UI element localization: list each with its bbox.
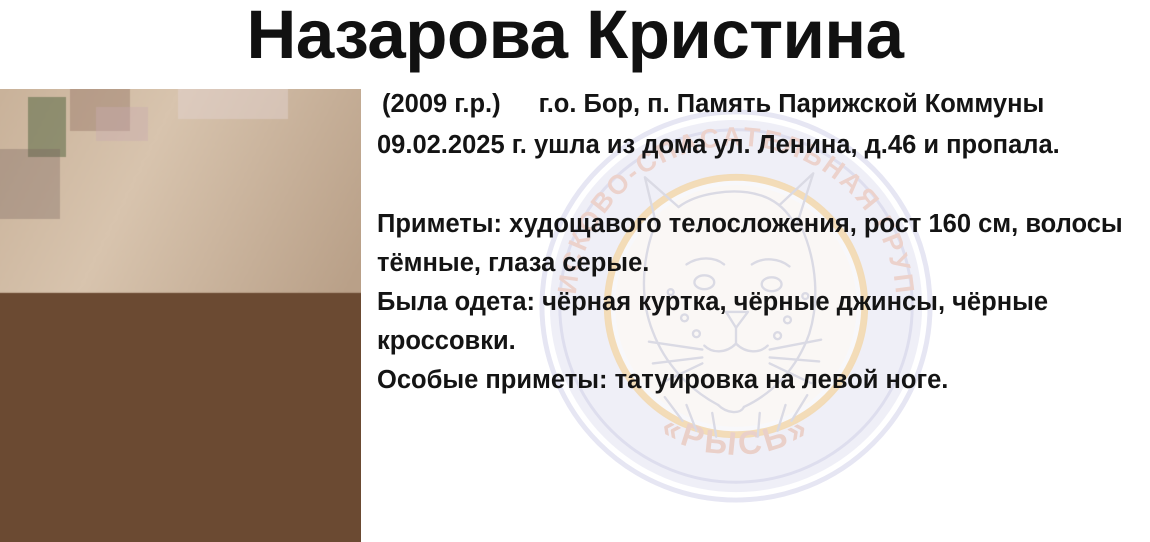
clothing-line-2: кроссовки. (377, 322, 1150, 361)
watermark-name-text: «РЫСЬ» (656, 407, 816, 463)
birth-year: (2009 г.р.) (382, 90, 501, 118)
features-line-2: тёмные, глаза серые. (377, 244, 1150, 283)
photo-canvas (0, 89, 361, 542)
missing-person-poster: ПОИСКОВО-СПАСАТЕЛЬНАЯ ГРУППА «РЫСЬ» (0, 0, 1150, 542)
features-line-1: Приметы: худощавого телосложения, рост 1… (377, 205, 1150, 244)
birth-and-location-line: (2009 г.р.)г.о. Бор, п. Память Парижской… (377, 88, 1150, 120)
page-title: Назарова Кристина (0, 0, 1150, 72)
clothing-line-1: Была одета: чёрная куртка, чёрные джинсы… (377, 283, 1150, 322)
description-block: Приметы: худощавого телосложения, рост 1… (377, 205, 1150, 400)
disappearance-line: 09.02.2025 г. ушла из дома ул. Ленина, д… (377, 129, 1150, 161)
location: г.о. Бор, п. Память Парижской Коммуны (539, 90, 1045, 118)
missing-person-photo (0, 89, 361, 542)
poster-text-column: (2009 г.р.)г.о. Бор, п. Память Парижской… (377, 88, 1150, 400)
special-marks-line: Особые приметы: татуировка на левой ноге… (377, 361, 1150, 400)
